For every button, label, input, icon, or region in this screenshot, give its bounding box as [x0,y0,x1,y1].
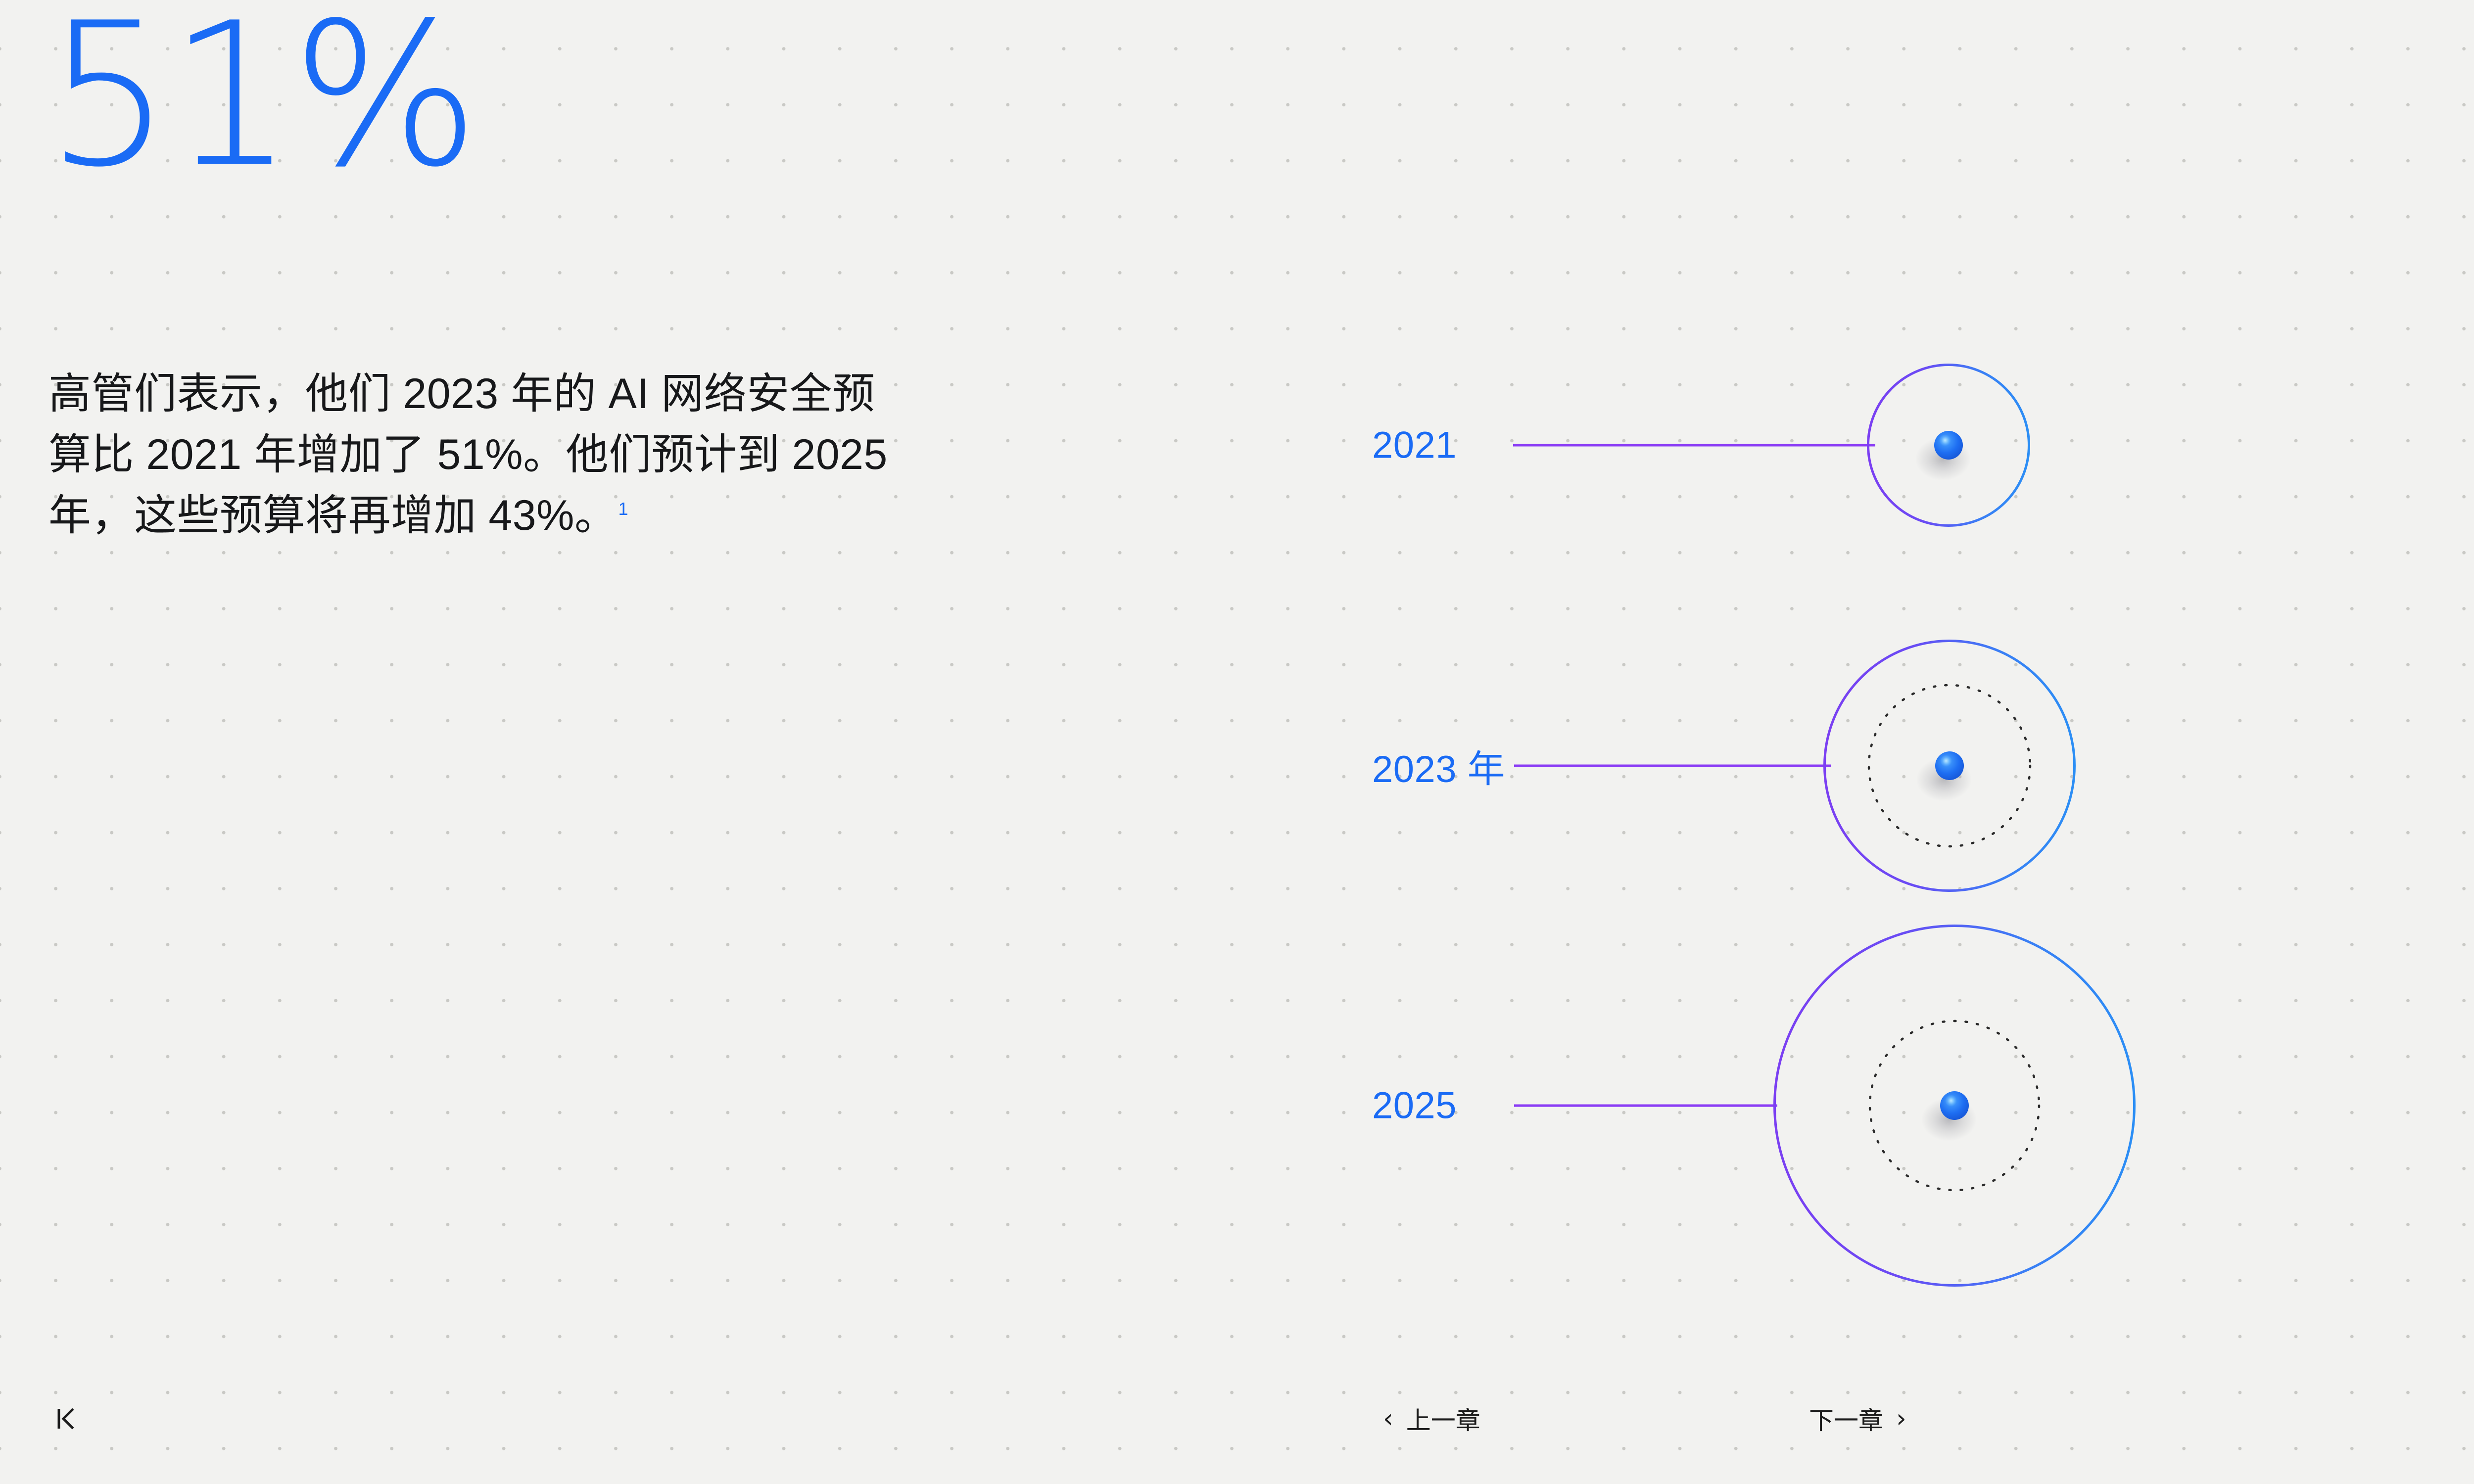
previous-chapter-button[interactable]: ‹ 上一章 [1383,1401,1480,1437]
sphere-2021 [1934,431,1963,460]
skip-to-start-icon[interactable] [52,1402,86,1436]
sphere-shadow-2023 [1916,758,1972,801]
bubble-ring-2023 [1825,641,2075,891]
bubble-label-2021: 2021 [1372,424,1457,467]
sphere-shadow-2025 [1921,1098,1977,1141]
bubble-chart [0,0,2474,1484]
bubble-group-2023[interactable] [1514,641,2075,891]
sphere-2023 [1935,751,1964,780]
chevron-right-icon: › [1896,1406,1906,1432]
stat-headline: 51% [46,0,476,195]
sphere-highlight-2021 [1939,434,1951,446]
next-chapter-button[interactable]: 下一章 › [1809,1401,1906,1437]
chevron-left-icon: ‹ [1383,1406,1393,1432]
body-paragraph: 高管们表示，他们 2023 年的 AI 网络安全预算比 2021 年增加了 51… [48,364,904,546]
sphere-shadow-2021 [1915,437,1971,481]
body-paragraph-text: 高管们表示，他们 2023 年的 AI 网络安全预算比 2021 年增加了 51… [48,370,888,539]
bubble-ring-2021 [1868,365,2029,526]
previous-chapter-label: 上一章 [1406,1401,1480,1437]
bubble-ring-2025 [1775,926,2135,1286]
sphere-highlight-2025 [1945,1095,1957,1107]
reference-ring-2025 [1870,1021,2039,1190]
footnote-reference[interactable]: 1 [618,499,629,519]
sphere-highlight-2023 [1940,755,1952,767]
reference-ring-2023 [1869,685,2030,846]
bubble-label-2025: 2025 [1372,1084,1457,1127]
bubble-label-2023: 2023 年 [1372,739,1505,793]
footer-bar [0,1395,2474,1484]
bubble-group-2025[interactable] [1514,926,2135,1286]
slide-canvas: 51% 高管们表示，他们 2023 年的 AI 网络安全预算比 2021 年增加… [0,0,2474,1484]
sphere-2025 [1940,1091,1969,1120]
bubble-group-2021[interactable] [1513,365,2029,526]
next-chapter-label: 下一章 [1809,1401,1883,1437]
dot-grid-background [0,0,2474,1484]
